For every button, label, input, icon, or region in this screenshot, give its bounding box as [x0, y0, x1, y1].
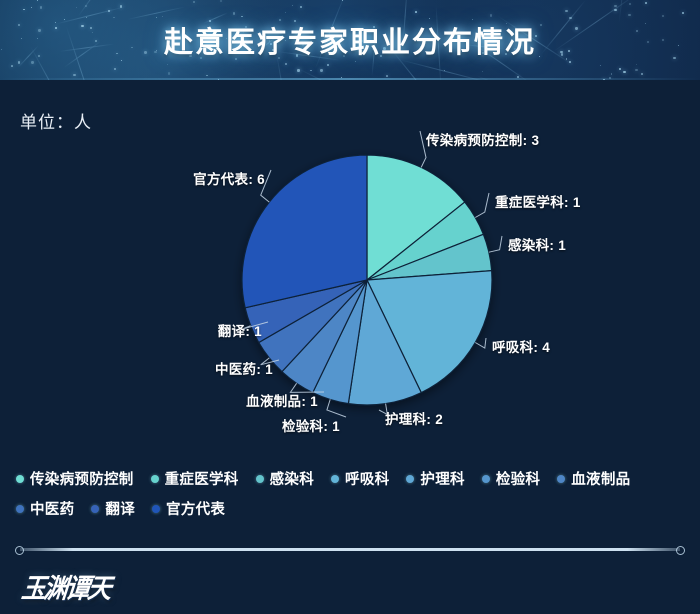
pie-chart: 传染病预防控制: 3重症医学科: 1感染科: 1呼吸科: 4护理科: 2检验科:…	[0, 80, 700, 460]
legend-color-dot	[557, 475, 565, 483]
legend-label: 检验科	[496, 468, 540, 489]
legend-label: 呼吸科	[345, 468, 389, 489]
pie-slice-label: 护理科: 2	[385, 408, 443, 428]
legend-item[interactable]: 传染病预防控制	[16, 468, 134, 489]
legend-label: 血液制品	[571, 468, 630, 489]
legend-item[interactable]: 重症医学科	[151, 468, 239, 489]
legend-color-dot	[256, 475, 264, 483]
legend-label: 中医药	[30, 498, 74, 519]
pie-slice-label: 血液制品: 1	[246, 390, 318, 410]
legend-label: 感染科	[270, 468, 314, 489]
header-underline	[0, 78, 700, 80]
page-header: 赴意医疗专家职业分布情况	[0, 0, 700, 80]
pie-leader-line	[475, 193, 489, 218]
legend-item[interactable]: 中医药	[16, 498, 74, 519]
chart-legend: 传染病预防控制重症医学科感染科呼吸科护理科检验科血液制品中医药翻译官方代表	[16, 468, 688, 519]
legend-item[interactable]: 感染科	[256, 468, 314, 489]
pie-slice-label: 传染病预防控制: 3	[426, 129, 539, 149]
legend-item[interactable]: 护理科	[406, 468, 464, 489]
legend-label: 传染病预防控制	[30, 468, 134, 489]
legend-item[interactable]: 翻译	[91, 498, 135, 519]
legend-label: 护理科	[420, 468, 464, 489]
pie-slice-label: 翻译: 1	[218, 320, 262, 340]
pie-slice-label: 重症医学科: 1	[495, 191, 581, 211]
pie-slice-label: 中医药: 1	[215, 358, 273, 378]
watermark-logo: 玉渊谭天	[20, 566, 112, 605]
legend-color-dot	[152, 505, 160, 513]
legend-label: 翻译	[105, 498, 135, 519]
pie-slice-label: 官方代表: 6	[193, 168, 265, 188]
pie-leader-line	[489, 236, 502, 252]
legend-color-dot	[151, 475, 159, 483]
footer-divider	[20, 548, 680, 551]
legend-color-dot	[16, 505, 24, 513]
legend-color-dot	[482, 475, 490, 483]
legend-item[interactable]: 检验科	[482, 468, 540, 489]
legend-item[interactable]: 官方代表	[152, 498, 225, 519]
legend-color-dot	[91, 505, 99, 513]
page-title: 赴意医疗专家职业分布情况	[0, 0, 700, 80]
pie-slice-label: 呼吸科: 4	[492, 336, 550, 356]
pie-slice-label: 感染科: 1	[508, 234, 566, 254]
legend-label: 重症医学科	[165, 468, 239, 489]
legend-color-dot	[331, 475, 339, 483]
page-footer: 玉渊谭天	[0, 540, 700, 614]
legend-item[interactable]: 呼吸科	[331, 468, 389, 489]
legend-color-dot	[406, 475, 414, 483]
chart-area: 单位：人 传染病预防控制: 3重症医学科: 1感染科: 1呼吸科: 4护理科: …	[0, 80, 700, 540]
legend-label: 官方代表	[166, 498, 225, 519]
legend-color-dot	[16, 475, 24, 483]
pie-slice-label: 检验科: 1	[282, 415, 340, 435]
pie-chart-svg	[0, 80, 700, 460]
legend-item[interactable]: 血液制品	[557, 468, 630, 489]
